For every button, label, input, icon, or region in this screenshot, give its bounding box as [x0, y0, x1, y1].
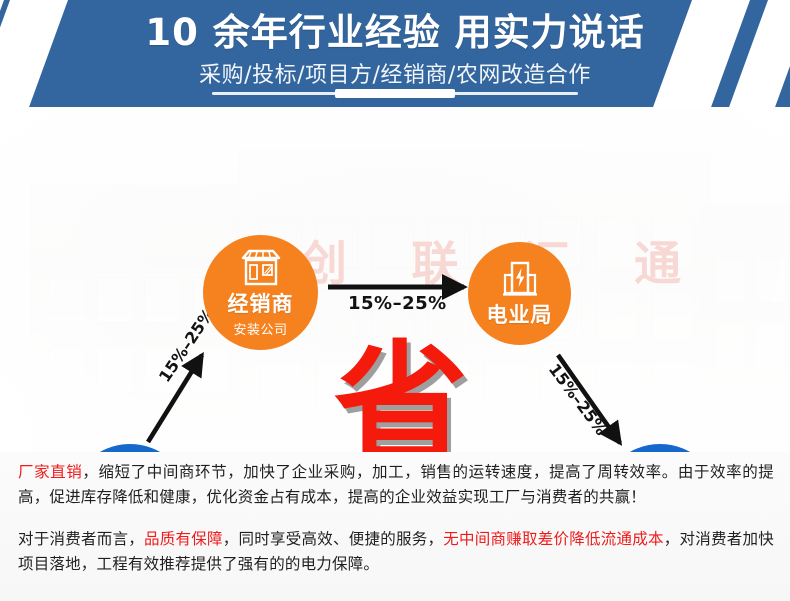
paragraph-2-lead: 对于消费者而言，	[18, 530, 144, 548]
highlight-quality-guarantee: 品质有保障	[144, 530, 223, 548]
description-paragraph-1: 厂家直销，缩短了中间商环节，加快了企业采购，加工，销售的运转速度，提高了周转效率…	[18, 460, 774, 510]
node-power-bureau[interactable]: 电业局	[468, 242, 571, 345]
header-title: 10 余年行业经验 用实力说话	[0, 10, 790, 56]
paragraph-1-body: ，缩短了中间商环节，加快了企业采购，加工，销售的运转速度，提高了周转效率。由于效…	[18, 463, 774, 506]
header-banner: 10 余年行业经验 用实力说话 采购/投标/项目方/经销商/农网改造合作	[0, 0, 790, 107]
description-paragraph-2: 对于消费者而言，品质有保障，同时享受高效、便捷的服务，无中间商赚取差价降低流通成…	[18, 527, 774, 577]
arrow-label-dealer-to-bureau: 15%–25%	[348, 293, 447, 314]
node-dealer[interactable]: 经销商 安装公司	[203, 235, 318, 350]
power-building-icon	[499, 259, 541, 299]
header-divider-center	[335, 89, 455, 98]
header-subtitle: 采购/投标/项目方/经销商/农网改造合作	[0, 57, 790, 89]
node-power-bureau-label: 电业局	[487, 299, 553, 329]
highlight-factory-direct: 厂家直销	[18, 463, 82, 481]
supply-chain-diagram: 创 联 汇 通 15%–25% 15%–25% 15%–25% 在这里省了中间环…	[0, 107, 790, 452]
promo-banner: 10 余年行业经验 用实力说话 采购/投标/项目方/经销商/农网改造合作	[0, 0, 790, 601]
storefront-icon	[239, 248, 283, 288]
highlight-no-middleman: 无中间商赚取差价降低流通成本	[443, 530, 664, 548]
paragraph-2-middle: ，同时享受高效、便捷的服务，	[223, 530, 444, 548]
node-dealer-sublabel: 安装公司	[233, 319, 287, 338]
node-dealer-label: 经销商	[228, 288, 294, 318]
savings-character: 省	[334, 339, 464, 452]
description-section: 厂家直销，缩短了中间商环节，加快了企业采购，加工，销售的运转速度，提高了周转效率…	[0, 452, 790, 601]
